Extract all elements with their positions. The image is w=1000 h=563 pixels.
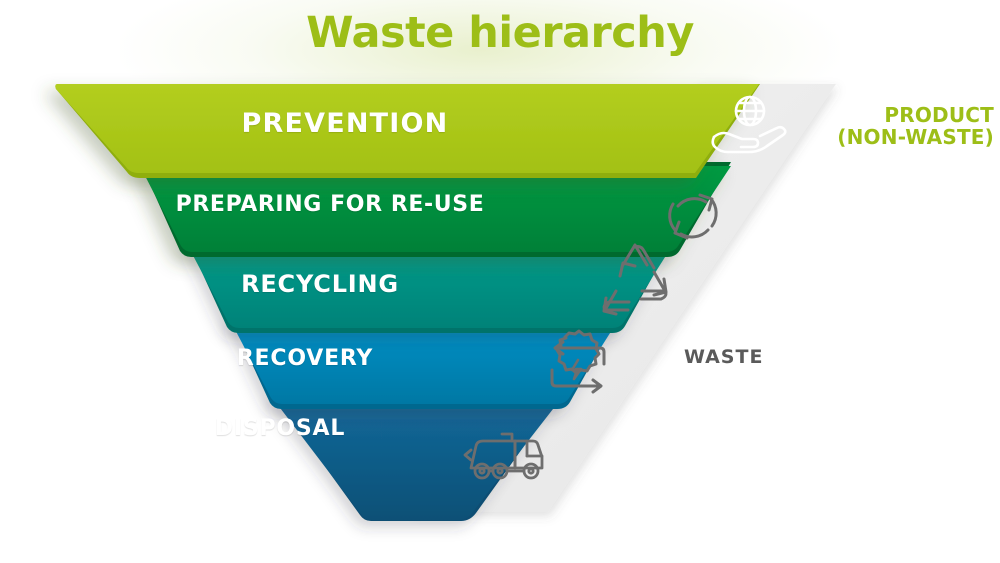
band-label-disposal: DISPOSAL [0,416,560,441]
band-label-prevention: PREVENTION [0,108,690,139]
category-label-product: PRODUCT (NON-WASTE) [837,104,994,148]
band-label-recovery: RECOVERY [0,346,610,371]
category-label-waste: WASTE [684,346,763,368]
category-label-product-line1: PRODUCT [837,104,994,126]
band-label-recycling: RECYCLING [0,270,640,298]
waste-hierarchy-infographic: Waste hierarchy [0,0,1000,563]
band-label-preparing-for-re-use: PREPARING FOR RE-USE [0,192,660,217]
category-label-product-line2: (NON-WASTE) [837,126,994,148]
